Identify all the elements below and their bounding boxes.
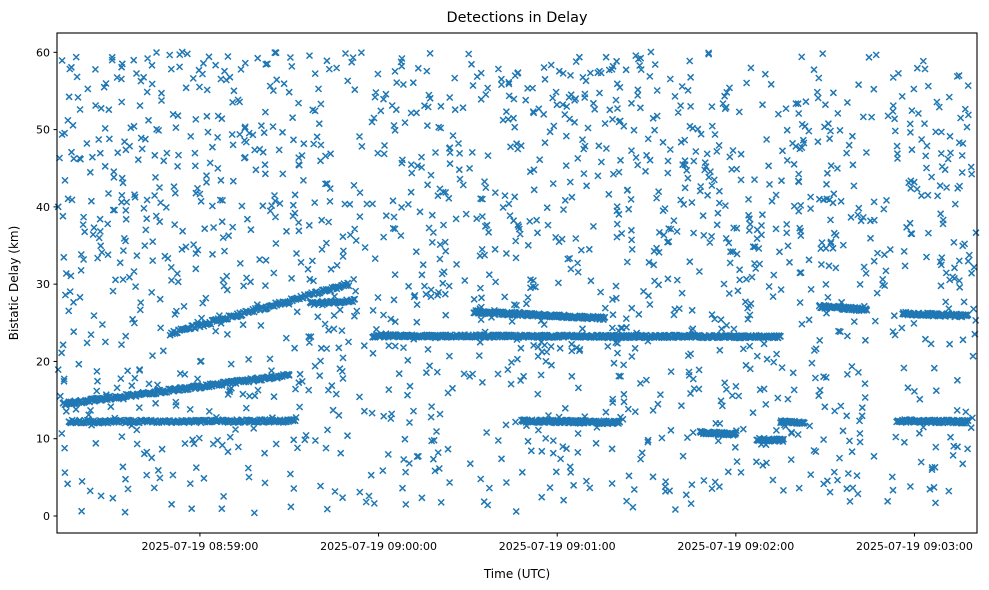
y-tick-label: 0 [43,510,50,523]
x-tick-label: 2025-07-19 09:03:00 [856,540,973,553]
matplotlib-figure: 01020304050602025-07-19 08:59:002025-07-… [0,0,989,590]
y-tick-label: 40 [36,201,50,214]
x-tick-label: 2025-07-19 09:02:00 [677,540,794,553]
y-tick-label: 50 [36,124,50,137]
y-axis-label: Bistatic Delay (km) [7,226,21,341]
chart-title: Detections in Delay [447,10,588,26]
scatter-plot-canvas: 01020304050602025-07-19 08:59:002025-07-… [0,0,989,590]
y-tick-label: 10 [36,433,50,446]
y-tick-label: 30 [36,278,50,291]
x-axis-label: Time (UTC) [483,567,550,581]
y-tick-label: 20 [36,355,50,368]
x-tick-label: 2025-07-19 08:59:00 [141,540,258,553]
y-tick-label: 60 [36,46,50,59]
x-tick-label: 2025-07-19 09:01:00 [499,540,616,553]
x-tick-label: 2025-07-19 09:00:00 [320,540,437,553]
